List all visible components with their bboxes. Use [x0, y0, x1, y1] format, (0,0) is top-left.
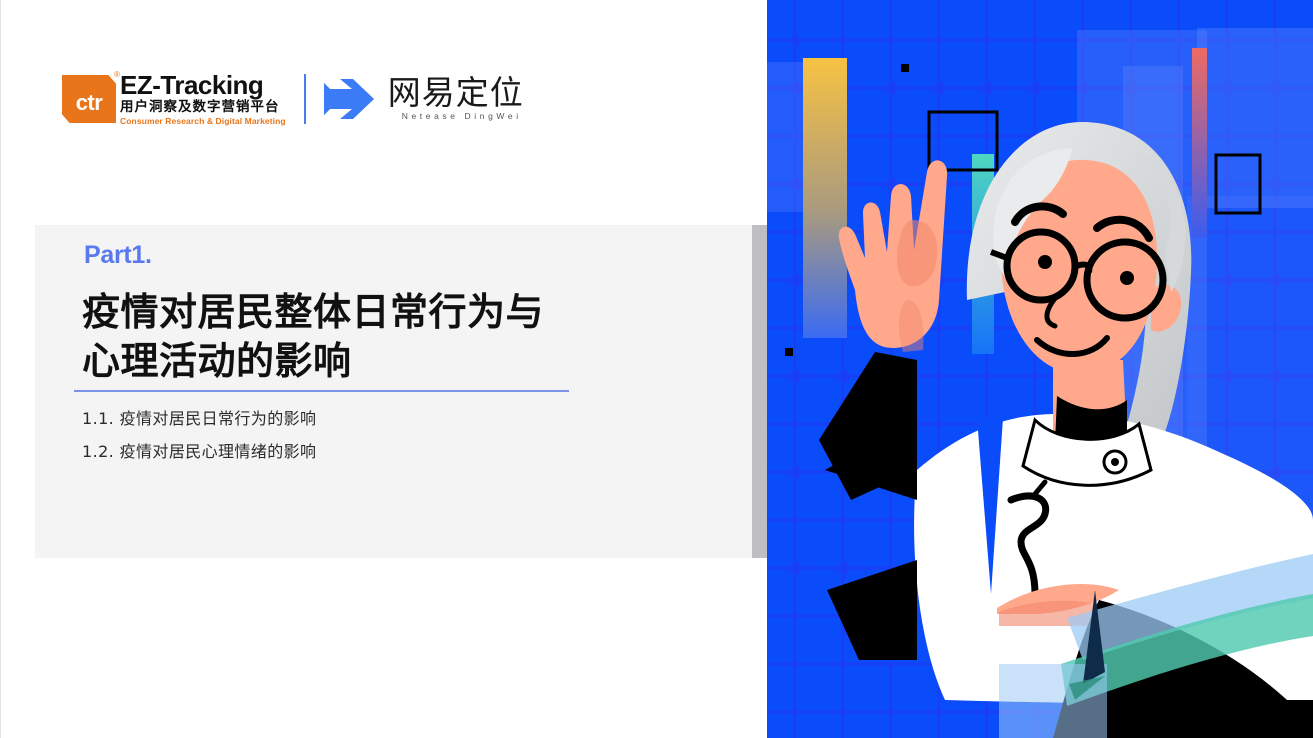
part-label: Part1.: [84, 243, 152, 268]
netease-arrow-icon: [322, 77, 376, 121]
page-title: 疫情对居民整体日常行为与 心理活动的影响: [82, 288, 642, 385]
table-of-contents: 1.1. 疫情对居民日常行为的影响 1.2. 疫情对居民心理情绪的影响: [82, 403, 642, 469]
content-panel: [35, 225, 752, 558]
ez-tracking-subtitle-en: Consumer Research & Digital Marketing: [120, 116, 286, 126]
title-divider: [74, 390, 569, 392]
registered-trademark-icon: ®: [114, 70, 120, 79]
netease-wordmark: 网易定位 Netease DingWei: [388, 76, 524, 122]
ez-tracking-title: EZ-Tracking: [120, 72, 286, 99]
page-title-line-2: 心理活动的影响: [82, 337, 642, 386]
ez-tracking-wordmark: ® EZ-Tracking 用户洞察及数字营销平台 Consumer Resea…: [120, 72, 286, 126]
slide-root: ctr ® EZ-Tracking 用户洞察及数字营销平台 Consumer R…: [0, 0, 1313, 738]
logo-divider: [304, 74, 306, 124]
illustration-panel: [767, 0, 1313, 738]
page-title-line-1: 疫情对居民整体日常行为与: [82, 288, 642, 337]
toc-item-1[interactable]: 1.1. 疫情对居民日常行为的影响: [82, 403, 642, 436]
ctr-logo-text: ctr: [76, 85, 103, 114]
logo-lockup: ctr ® EZ-Tracking 用户洞察及数字营销平台 Consumer R…: [62, 70, 524, 128]
content-panel-edge: [752, 225, 767, 558]
illustration-artwork: [767, 0, 1313, 738]
slide-left-border: [0, 0, 1, 738]
ctr-logo-mark: ctr: [62, 75, 116, 123]
netease-title-en: Netease DingWei: [388, 111, 524, 122]
toc-item-2[interactable]: 1.2. 疫情对居民心理情绪的影响: [82, 436, 642, 469]
netease-title-cn: 网易定位: [388, 76, 524, 111]
ez-tracking-subtitle-cn: 用户洞察及数字营销平台: [120, 99, 286, 116]
